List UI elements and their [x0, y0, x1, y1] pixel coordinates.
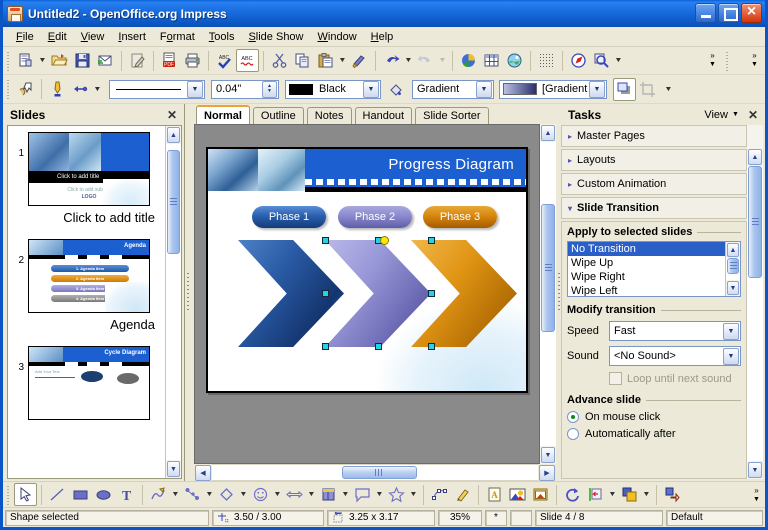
- status-modified: *: [485, 510, 507, 526]
- menu-insert[interactable]: Insert: [111, 29, 153, 45]
- line-icon[interactable]: [46, 483, 69, 506]
- header-photo-icon: [29, 240, 63, 255]
- arrange-icon[interactable]: [618, 483, 641, 506]
- status-size-value: 3.25 x 3.17: [349, 512, 398, 523]
- open-icon[interactable]: [48, 49, 71, 72]
- slides-panel: Slides ✕ 1: [3, 104, 185, 481]
- main-area: Slides ✕ 1: [3, 104, 765, 481]
- alignment-dropdown[interactable]: [607, 483, 618, 506]
- cycle-underline: [35, 377, 75, 378]
- redo-dropdown[interactable]: [437, 49, 448, 72]
- slide-thumbnail-2[interactable]: Agenda 1. Agenda Item 2. Agenda Item 3. …: [28, 239, 150, 313]
- toolbar-separator: [41, 485, 42, 505]
- transition-listbox[interactable]: No Transition Wipe Up Wipe Right Wipe Le…: [567, 241, 741, 297]
- gallery-icon[interactable]: [529, 483, 552, 506]
- redo-icon[interactable]: [414, 49, 437, 72]
- tasks-view-button[interactable]: View: [704, 109, 732, 121]
- mouse-photo-icon: [258, 149, 305, 191]
- status-position: 3.50 / 3.00: [212, 510, 324, 526]
- autospellcheck-icon[interactable]: ABC: [236, 49, 259, 72]
- list-scroll-track[interactable]: [726, 258, 740, 280]
- line-style-preview: [110, 89, 187, 90]
- canvas-scroll-right-icon[interactable]: ▶: [539, 465, 555, 481]
- zoom-icon[interactable]: [590, 49, 613, 72]
- display-grid-icon[interactable]: [535, 49, 558, 72]
- slides-scroll-thumb[interactable]: [167, 150, 180, 254]
- canvas-scroll-down-icon[interactable]: ▼: [541, 447, 555, 463]
- editor-pane: Normal Outline Notes Handout Slide Sorte…: [190, 104, 556, 481]
- cloud-graphic: [105, 282, 149, 312]
- advance-group-title: Advance slide: [567, 394, 741, 406]
- slide-2-caption: Agenda: [8, 313, 165, 340]
- menu-window[interactable]: Window: [311, 29, 364, 45]
- canvas-horizontal-scrollbar[interactable]: ◀ ▶: [194, 464, 556, 481]
- agenda-header-band: Agenda: [29, 240, 149, 255]
- apply-group-label: Apply to selected slides: [567, 226, 692, 238]
- area-style-icon[interactable]: [385, 78, 408, 101]
- copy-icon[interactable]: [291, 49, 314, 72]
- area-fill-value: [Gradient 1: [537, 83, 589, 95]
- advance-group-label: Advance slide: [567, 394, 641, 406]
- sound-label: Sound: [567, 350, 609, 362]
- zoom-dropdown[interactable]: [613, 49, 624, 72]
- status-bar: Shape selected 3.50 / 3.00 3.25 x 3.17 3…: [3, 507, 765, 527]
- cycle-shape: [81, 371, 103, 382]
- callout-dropdown[interactable]: [374, 483, 385, 506]
- view-tabs: Normal Outline Notes Handout Slide Sorte…: [190, 104, 556, 124]
- tasks-scroll-thumb[interactable]: [748, 166, 762, 278]
- line-color-combo[interactable]: Black: [285, 80, 381, 99]
- slide-title[interactable]: Progress Diagram: [388, 156, 514, 173]
- speed-combo[interactable]: Fast: [609, 321, 741, 341]
- text-box-icon[interactable]: T: [115, 483, 138, 506]
- area-style-value: Gradient: [413, 83, 476, 95]
- phase-1-pill[interactable]: Phase 1: [252, 206, 326, 228]
- header-dash-pattern-2: [305, 182, 526, 185]
- arrow-style-icon[interactable]: [69, 78, 92, 101]
- toolbar-separator: [263, 51, 264, 71]
- symbol-shapes-icon[interactable]: [249, 483, 272, 506]
- slides-panel-title: Slides: [10, 108, 164, 122]
- line-color-icon[interactable]: [46, 78, 69, 101]
- impress-document-icon: [7, 6, 23, 22]
- list-item[interactable]: 3 Cycle Diagram Add Your Text: [8, 340, 165, 420]
- drawing-toolbar: T: [3, 481, 765, 507]
- edit-file-icon[interactable]: [126, 49, 149, 72]
- spelling-icon[interactable]: ABC: [213, 49, 236, 72]
- toolbar-grip[interactable]: [5, 50, 12, 72]
- scroll-grip: [730, 262, 737, 271]
- new-document-dropdown[interactable]: [37, 49, 48, 72]
- slide-number: 1: [12, 132, 28, 159]
- scroll-grip: [375, 469, 384, 476]
- toolbar-separator: [41, 79, 42, 99]
- thumb-header-text: Agenda: [124, 243, 146, 249]
- gradient-swatch: [503, 83, 537, 95]
- phase-3-chevron[interactable]: [411, 240, 517, 347]
- canvas-scroll-thumb[interactable]: [541, 204, 555, 332]
- advance-on-click-row[interactable]: On mouse click: [567, 411, 741, 423]
- line-width-spinner[interactable]: ▲▼: [262, 81, 277, 98]
- menu-help[interactable]: Help: [364, 29, 401, 45]
- status-signature: [510, 510, 532, 526]
- scroll-grip: [170, 198, 177, 207]
- flowchart-shapes-icon[interactable]: [317, 483, 340, 506]
- arrow-style-dropdown[interactable]: [92, 78, 103, 101]
- canvas-vertical-scrollbar[interactable]: ▲ ▼: [540, 124, 556, 464]
- alignment-icon[interactable]: [584, 483, 607, 506]
- extrusion-icon[interactable]: [661, 483, 684, 506]
- line-filling-overflow[interactable]: [663, 78, 674, 101]
- toolbar-separator: [562, 51, 563, 71]
- ellipse-icon[interactable]: [92, 483, 115, 506]
- agenda-item: 2. Agenda Item: [51, 275, 129, 282]
- sound-row: Sound <No Sound>: [567, 346, 741, 366]
- menu-view[interactable]: View: [74, 29, 112, 45]
- menu-edit[interactable]: Edit: [41, 29, 74, 45]
- current-slide[interactable]: Progress Diagram Phase 1 Phase 2 Phase 3: [206, 147, 528, 393]
- print-icon[interactable]: [181, 49, 204, 72]
- tasks-panel-close-icon[interactable]: ✕: [745, 108, 761, 122]
- menu-tools[interactable]: Tools: [202, 29, 242, 45]
- blue-block: [101, 133, 149, 171]
- speed-value: Fast: [610, 325, 723, 337]
- slide-canvas[interactable]: Progress Diagram Phase 1 Phase 2 Phase 3: [194, 124, 540, 464]
- thumb-logo-text: LOGO: [29, 194, 149, 200]
- scroll-down-icon[interactable]: ▼: [727, 281, 739, 295]
- overflow-label-3: »: [754, 486, 758, 495]
- section-master-pages[interactable]: ▸ Master Pages: [561, 125, 747, 147]
- computer-photo-icon: [29, 133, 69, 171]
- scroll-grip: [752, 218, 759, 227]
- insert-image-icon[interactable]: [506, 483, 529, 506]
- canvas-scroll-up-icon[interactable]: ▲: [541, 125, 555, 141]
- tasks-scroll-down-icon[interactable]: ▼: [748, 462, 762, 478]
- points-icon[interactable]: [428, 483, 451, 506]
- chevron-right-icon: ▸: [568, 180, 572, 189]
- toolbar-grip-2[interactable]: [724, 50, 731, 72]
- tasks-sections: ▸ Master Pages ▸ Layouts ▸ Custom Animat…: [561, 125, 747, 479]
- list-scroll-thumb[interactable]: [727, 258, 739, 274]
- svg-text:T: T: [122, 489, 132, 503]
- canvas-hscroll-track[interactable]: [212, 464, 538, 481]
- modify-group-label: Modify transition: [567, 304, 656, 316]
- svg-text:ABC: ABC: [241, 56, 252, 62]
- area-style-combo[interactable]: Gradient: [412, 80, 494, 99]
- toolbar-grip-4[interactable]: [5, 484, 12, 506]
- tasks-panel-title: Tasks: [568, 108, 704, 122]
- status-selection: Shape selected: [5, 510, 209, 526]
- arrange-dropdown[interactable]: [641, 483, 652, 506]
- menu-file[interactable]: File: [9, 29, 41, 45]
- slides-scrollbar[interactable]: ▲ ▼: [165, 126, 181, 478]
- callout-shapes-icon[interactable]: [351, 483, 374, 506]
- stars-icon[interactable]: [385, 483, 408, 506]
- tasks-scroll-up-icon[interactable]: ▲: [748, 149, 762, 165]
- paste-dropdown[interactable]: [337, 49, 348, 72]
- menu-format[interactable]: Format: [153, 29, 202, 45]
- chevron-down-icon: ▾: [568, 204, 572, 213]
- curve-dropdown[interactable]: [170, 483, 181, 506]
- line-color-value: Black: [313, 83, 363, 95]
- line-width-field[interactable]: 0.04" ▲▼: [211, 80, 279, 99]
- block-arrows-icon[interactable]: [283, 483, 306, 506]
- toolbar-separator: [153, 51, 154, 71]
- apply-group-title: Apply to selected slides: [567, 226, 741, 238]
- toolbar-separator: [478, 485, 479, 505]
- standard-toolbar-overflow[interactable]: » ▼: [706, 49, 719, 71]
- header-black-rule: [305, 187, 526, 192]
- sound-combo[interactable]: <No Sound>: [609, 346, 741, 366]
- phase-3-pill[interactable]: Phase 3: [423, 206, 497, 228]
- mouse-photo-icon: [69, 133, 101, 171]
- export-pdf-icon[interactable]: PDF: [158, 49, 181, 72]
- tasks-body: ▸ Master Pages ▸ Layouts ▸ Custom Animat…: [561, 125, 763, 479]
- selection-handle-ne[interactable]: [428, 237, 435, 244]
- computer-photo-icon: [208, 149, 258, 191]
- advance-on-click-label: On mouse click: [585, 411, 660, 423]
- toolbar-separator: [556, 485, 557, 505]
- slide-1-caption: Click to add title: [8, 206, 165, 233]
- line-width-value: 0.04": [212, 83, 262, 95]
- scroll-up-icon[interactable]: ▲: [727, 243, 739, 257]
- selection-handle-sw[interactable]: [322, 343, 329, 350]
- sound-dropdown-button[interactable]: [723, 348, 739, 365]
- canvas-scroll-track[interactable]: [540, 142, 556, 446]
- chevron-right-icon: ▸: [568, 156, 572, 165]
- transition-option-wipe-right[interactable]: Wipe Right: [568, 270, 725, 284]
- slides-panel-close-icon[interactable]: ✕: [164, 108, 180, 122]
- scroll-up-icon[interactable]: ▲: [167, 127, 180, 143]
- email-document-icon[interactable]: [94, 49, 117, 72]
- list-item[interactable]: 1 Click to add title Click to add subtit…: [8, 126, 165, 206]
- section-custom-animation[interactable]: ▸ Custom Animation: [561, 173, 747, 195]
- undo-dropdown[interactable]: [403, 49, 414, 72]
- speed-dropdown-button[interactable]: [723, 323, 739, 340]
- slides-scroll-track[interactable]: [166, 144, 181, 460]
- thumb-header-text: Cycle Diagram: [104, 350, 146, 356]
- line-style-combo[interactable]: [109, 80, 205, 99]
- tab-handout[interactable]: Handout: [355, 107, 413, 124]
- area-style-dropdown-button[interactable]: [476, 81, 492, 98]
- section-label: Custom Animation: [577, 178, 666, 190]
- title-bar: Untitled2 - OpenOffice.org Impress: [3, 0, 765, 27]
- undo-icon[interactable]: [380, 49, 403, 72]
- agenda-item: 1. Agenda Item: [51, 265, 129, 272]
- slides-panel-header: Slides ✕: [3, 104, 184, 125]
- status-position-value: 3.50 / 3.00: [234, 512, 281, 523]
- tab-outline[interactable]: Outline: [253, 107, 304, 124]
- select-tool-icon[interactable]: [14, 78, 37, 101]
- header-photo-icon: [29, 347, 63, 362]
- clone-formatting-icon[interactable]: [348, 49, 371, 72]
- header-rule: [29, 255, 149, 259]
- line-and-filling-toolbar: 0.04" ▲▼ Black Gradient [Gradient 1: [3, 75, 765, 104]
- slides-list[interactable]: 1 Click to add title Click to add subtit…: [7, 125, 182, 479]
- transition-list-scrollbar[interactable]: ▲ ▼: [725, 242, 740, 296]
- curve-icon[interactable]: [147, 483, 170, 506]
- position-icon: [217, 512, 230, 524]
- slide-thumbnail-1[interactable]: Click to add title Click to add subtitle…: [28, 132, 150, 206]
- shadow-icon[interactable]: [613, 78, 636, 101]
- section-slide-transition[interactable]: ▾ Slide Transition: [561, 197, 747, 219]
- paste-icon[interactable]: [314, 49, 337, 72]
- toolbar-separator: [423, 485, 424, 505]
- section-label: Master Pages: [577, 130, 645, 142]
- slide-number: 2: [12, 239, 28, 266]
- slide-transition-panel: Apply to selected slides No Transition W…: [561, 221, 747, 479]
- svg-text:A: A: [491, 490, 498, 500]
- block-arrows-dropdown[interactable]: [306, 483, 317, 506]
- connector-dropdown[interactable]: [204, 483, 215, 506]
- tasks-scroll-track[interactable]: [747, 166, 763, 461]
- toolbar-separator: [142, 485, 143, 505]
- advance-on-click-radio[interactable]: [567, 411, 579, 423]
- area-fill-combo[interactable]: [Gradient 1: [499, 80, 607, 99]
- impress-window: Untitled2 - OpenOffice.org Impress File …: [0, 0, 768, 530]
- line-color-swatch: [289, 84, 313, 95]
- line-color-dropdown-button[interactable]: [363, 81, 379, 98]
- advance-auto-row[interactable]: Automatically after: [567, 428, 741, 440]
- drawing-toolbar-overflow[interactable]: » ▼: [750, 484, 763, 506]
- transition-option-no-transition[interactable]: No Transition: [568, 242, 725, 256]
- title-slide-images: [29, 133, 149, 171]
- selection-handle-w[interactable]: [322, 290, 329, 297]
- basic-shapes-dropdown[interactable]: [238, 483, 249, 506]
- cycle-header-band: Cycle Diagram: [29, 347, 149, 362]
- status-zoom[interactable]: 35%: [438, 510, 482, 526]
- connector-icon[interactable]: [181, 483, 204, 506]
- advance-auto-radio[interactable]: [567, 428, 579, 440]
- overflow-label: »: [710, 51, 714, 60]
- stars-dropdown[interactable]: [408, 483, 419, 506]
- standard-toolbar-overflow-2[interactable]: » ▼: [748, 49, 761, 71]
- rotate-icon[interactable]: [561, 483, 584, 506]
- toolbar-separator: [375, 51, 376, 71]
- speed-row: Speed Fast: [567, 321, 741, 341]
- chevron-down-icon[interactable]: ▼: [732, 111, 745, 118]
- selection-handle-nw[interactable]: [322, 237, 329, 244]
- menu-bar: File Edit View Insert Format Tools Slide…: [3, 27, 765, 47]
- section-layouts[interactable]: ▸ Layouts: [561, 149, 747, 171]
- maximize-button[interactable]: [718, 3, 739, 23]
- toolbar-separator: [452, 51, 453, 71]
- overflow-label-2: »: [752, 51, 756, 60]
- canvas-wrapper: Progress Diagram Phase 1 Phase 2 Phase 3: [190, 124, 556, 464]
- svg-text:PDF: PDF: [164, 62, 174, 68]
- chevron-right-icon: ▸: [568, 132, 572, 141]
- section-label: Layouts: [577, 154, 616, 166]
- cloud-graphic: [103, 179, 149, 205]
- transition-option-wipe-up[interactable]: Wipe Up: [568, 256, 725, 270]
- slide-number: 3: [12, 346, 28, 373]
- rectangle-icon[interactable]: [69, 483, 92, 506]
- symbol-shapes-dropdown[interactable]: [272, 483, 283, 506]
- area-fill-dropdown-button[interactable]: [589, 81, 605, 98]
- speed-label: Speed: [567, 325, 609, 337]
- window-controls: [695, 3, 762, 23]
- canvas-hscroll-thumb[interactable]: [342, 466, 417, 479]
- window-title: Untitled2 - OpenOffice.org Impress: [28, 7, 227, 21]
- basic-shapes-icon[interactable]: [215, 483, 238, 506]
- scroll-down-icon[interactable]: ▼: [167, 461, 180, 477]
- toolbar-separator: [656, 485, 657, 505]
- sound-value: <No Sound>: [610, 350, 723, 362]
- tasks-panel: Tasks View ▼ ✕ ▸ Master Pages ▸ Layouts: [561, 104, 765, 481]
- cycle-label: Add Your Text: [35, 369, 60, 374]
- loop-sound-row[interactable]: Loop until next sound: [567, 372, 741, 385]
- crop-icon[interactable]: [636, 78, 659, 101]
- new-document-icon[interactable]: [14, 49, 37, 72]
- toolbar-grip-3[interactable]: [5, 78, 12, 100]
- toolbar-separator: [530, 51, 531, 71]
- selection-handle-s[interactable]: [375, 343, 382, 350]
- toolbar-separator: [208, 51, 209, 71]
- status-size: 3.25 x 3.17: [327, 510, 435, 526]
- transition-items: No Transition Wipe Up Wipe Right Wipe Le…: [568, 242, 725, 296]
- slide-thumbnail-3[interactable]: Cycle Diagram Add Your Text: [28, 346, 150, 420]
- cut-icon[interactable]: [268, 49, 291, 72]
- header-rule: [29, 362, 149, 366]
- tasks-panel-header: Tasks View ▼ ✕: [561, 104, 765, 125]
- scroll-grip: [545, 264, 552, 273]
- modify-group-title: Modify transition: [567, 304, 741, 316]
- phase-2-pill[interactable]: Phase 2: [338, 206, 412, 228]
- tab-notes[interactable]: Notes: [307, 107, 352, 124]
- selection-handle-e[interactable]: [428, 290, 435, 297]
- menu-slide-show[interactable]: Slide Show: [241, 29, 310, 45]
- list-item[interactable]: 2 Agenda 1. Agenda Item 2. Agenda Item: [8, 233, 165, 313]
- glue-points-icon[interactable]: [451, 483, 474, 506]
- table-icon[interactable]: [480, 49, 503, 72]
- chart-icon[interactable]: [457, 49, 480, 72]
- loop-sound-label: Loop until next sound: [627, 373, 732, 385]
- loop-sound-checkbox[interactable]: [609, 372, 622, 385]
- close-button[interactable]: [741, 3, 762, 23]
- minimize-button[interactable]: [695, 3, 716, 23]
- canvas-scroll-left-icon[interactable]: ◀: [195, 465, 211, 481]
- hyperlink-icon[interactable]: [567, 49, 590, 72]
- transition-option-wipe-left[interactable]: Wipe Left: [568, 284, 725, 296]
- status-master: Default: [666, 510, 763, 526]
- selection-handle-se[interactable]: [428, 343, 435, 350]
- section-label: Slide Transition: [577, 202, 659, 214]
- cycle-shape: [117, 373, 139, 384]
- adjustment-handle[interactable]: [380, 236, 389, 245]
- tab-slide-sorter[interactable]: Slide Sorter: [415, 107, 488, 124]
- select-arrow-icon[interactable]: [14, 483, 37, 506]
- image-icon[interactable]: [503, 49, 526, 72]
- tasks-scrollbar[interactable]: ▲ ▼: [747, 125, 763, 479]
- size-icon: [332, 512, 345, 524]
- save-icon[interactable]: [71, 49, 94, 72]
- fontwork-icon[interactable]: A: [483, 483, 506, 506]
- line-style-dropdown-button[interactable]: [187, 81, 203, 98]
- standard-toolbar: PDF ABC ABC: [3, 47, 765, 75]
- status-slide: Slide 4 / 8: [535, 510, 663, 526]
- flowchart-dropdown[interactable]: [340, 483, 351, 506]
- toolbar-separator: [121, 51, 122, 71]
- tab-normal[interactable]: Normal: [196, 105, 250, 124]
- slides-scroll-area: 1 Click to add title Click to add subtit…: [8, 126, 165, 478]
- advance-auto-label: Automatically after: [585, 428, 675, 440]
